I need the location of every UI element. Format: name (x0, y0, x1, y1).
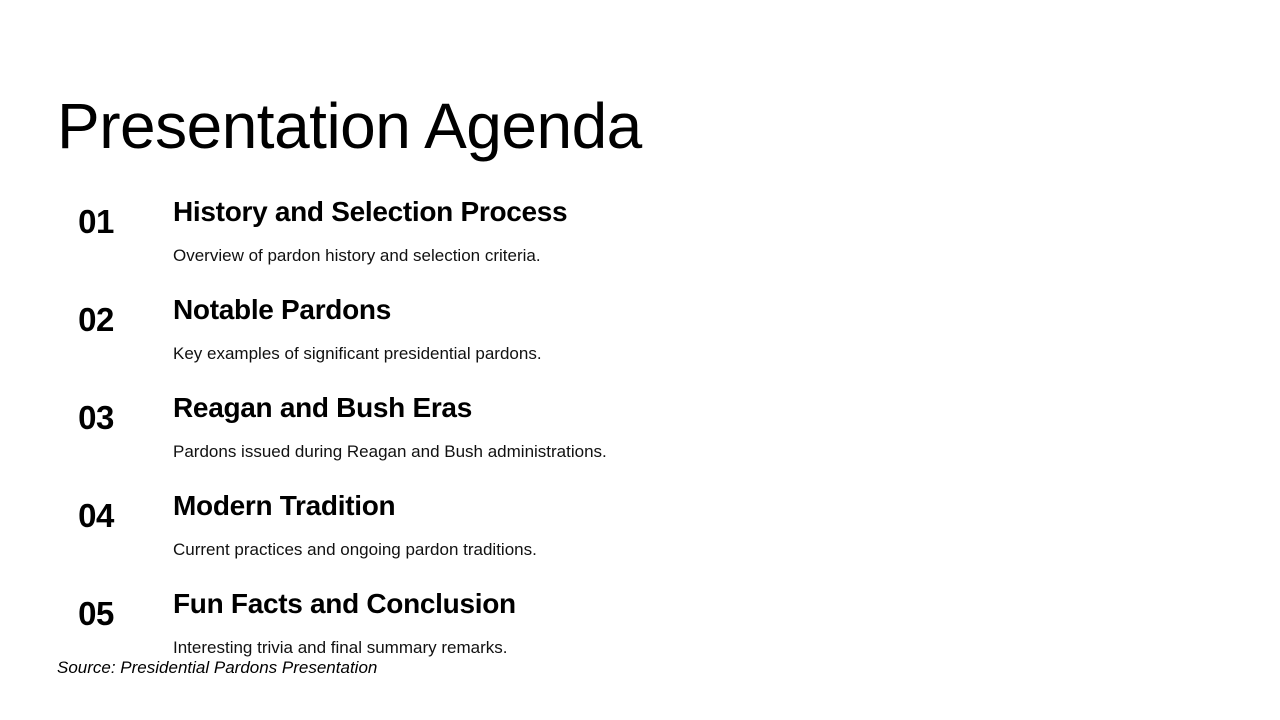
item-number: 03 (56, 401, 136, 434)
list-item[interactable]: 02 Notable Pardons Key examples of signi… (0, 294, 1280, 392)
item-subtitle: Current practices and ongoing pardon tra… (173, 539, 1240, 560)
item-heading: History and Selection Process (173, 196, 1240, 228)
item-subtitle: Pardons issued during Reagan and Bush ad… (173, 441, 1240, 462)
item-heading: Fun Facts and Conclusion (173, 588, 1240, 620)
item-subtitle: Overview of pardon history and selection… (173, 245, 1240, 266)
item-body: Fun Facts and Conclusion Interesting tri… (173, 588, 1240, 658)
list-item[interactable]: 03 Reagan and Bush Eras Pardons issued d… (0, 392, 1280, 490)
item-number: 04 (56, 499, 136, 532)
item-heading: Modern Tradition (173, 490, 1240, 522)
item-body: Reagan and Bush Eras Pardons issued duri… (173, 392, 1240, 462)
item-body: History and Selection Process Overview o… (173, 196, 1240, 266)
presentation-slide: Presentation Agenda 01 History and Selec… (0, 0, 1280, 720)
item-heading: Reagan and Bush Eras (173, 392, 1240, 424)
item-heading: Notable Pardons (173, 294, 1240, 326)
page-title: Presentation Agenda (57, 93, 642, 160)
item-number: 02 (56, 303, 136, 336)
source-note: Source: Presidential Pardons Presentatio… (57, 658, 377, 678)
item-subtitle: Key examples of significant presidential… (173, 343, 1240, 364)
item-subtitle: Interesting trivia and final summary rem… (173, 637, 1240, 658)
item-body: Modern Tradition Current practices and o… (173, 490, 1240, 560)
item-number: 05 (56, 597, 136, 630)
item-number: 01 (56, 205, 136, 238)
item-body: Notable Pardons Key examples of signific… (173, 294, 1240, 364)
list-item[interactable]: 04 Modern Tradition Current practices an… (0, 490, 1280, 588)
list-item[interactable]: 01 History and Selection Process Overvie… (0, 196, 1280, 294)
agenda-list: 01 History and Selection Process Overvie… (0, 196, 1280, 686)
